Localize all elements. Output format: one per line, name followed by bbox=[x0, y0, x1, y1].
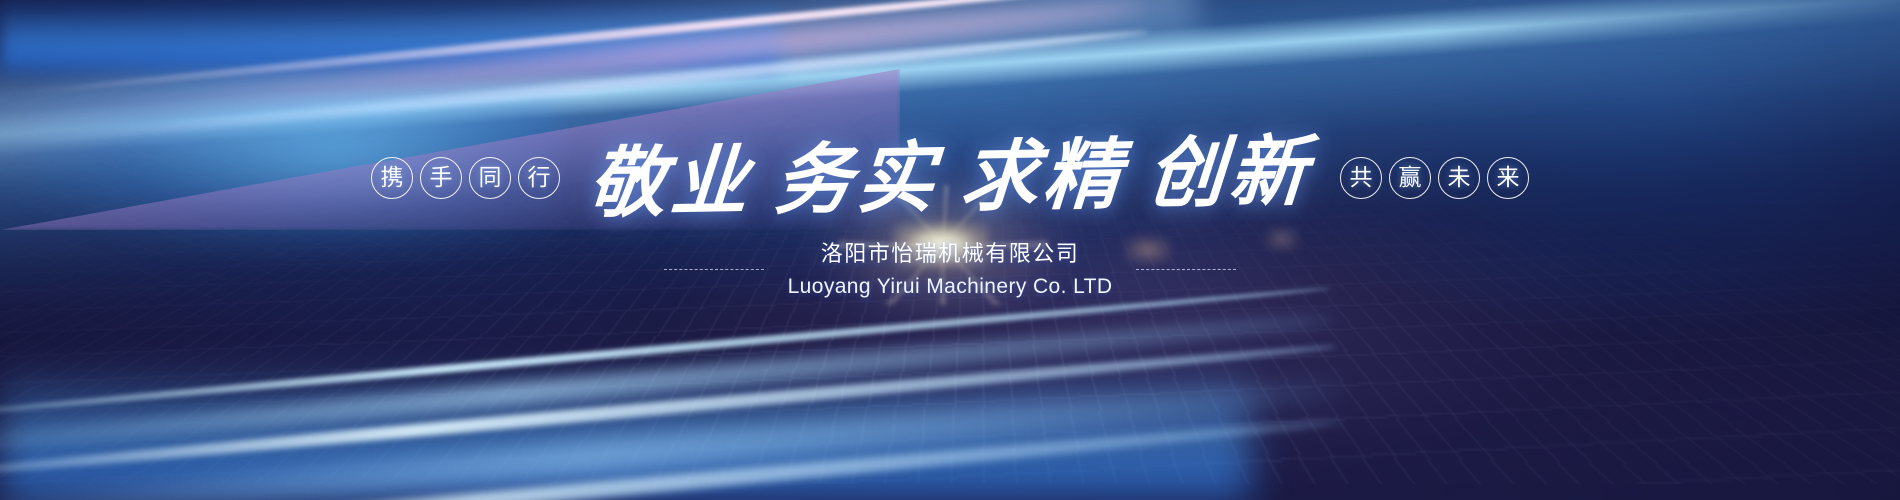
circle-char-xing: 行 bbox=[518, 157, 560, 199]
company-names: 洛阳市怡瑞机械有限公司 Luoyang Yirui Machinery Co. … bbox=[788, 240, 1113, 300]
circle-char-lai: 来 bbox=[1487, 157, 1529, 199]
circle-char-ying: 赢 bbox=[1389, 157, 1431, 199]
calligraphy-phrase-chuangxin: 创新 bbox=[1134, 133, 1326, 213]
slogan-row: 携 手 同 行 敬业 务实 求精 创新 共 赢 未 来 bbox=[0, 128, 1900, 228]
company-name-chinese: 洛阳市怡瑞机械有限公司 bbox=[821, 240, 1080, 270]
company-name-english: Luoyang Yirui Machinery Co. LTD bbox=[788, 273, 1113, 300]
circle-char-tong: 同 bbox=[469, 157, 511, 199]
calligraphy-phrase-qiujing: 求精 bbox=[947, 136, 1139, 216]
slogan-right-circle-group: 共 赢 未 来 bbox=[1340, 157, 1529, 199]
slogan-calligraphy: 敬业 务实 求精 创新 bbox=[575, 133, 1325, 223]
company-name-line: 洛阳市怡瑞机械有限公司 Luoyang Yirui Machinery Co. … bbox=[0, 240, 1900, 300]
slogan-left-circle-group: 携 手 同 行 bbox=[371, 157, 560, 199]
calligraphy-phrase-jingye: 敬业 bbox=[575, 143, 767, 223]
circle-char-wei: 未 bbox=[1438, 157, 1480, 199]
hero-banner: 携 手 同 行 敬业 务实 求精 创新 共 赢 未 来 bbox=[0, 0, 1900, 500]
circle-char-xie: 携 bbox=[371, 157, 413, 199]
calligraphy-phrase-wushi: 务实 bbox=[761, 140, 953, 220]
circle-char-gong: 共 bbox=[1340, 157, 1382, 199]
dashed-rule-right bbox=[1136, 269, 1236, 270]
circle-char-shou: 手 bbox=[420, 157, 462, 199]
banner-content: 携 手 同 行 敬业 务实 求精 创新 共 赢 未 来 bbox=[0, 0, 1900, 500]
dashed-rule-left bbox=[664, 269, 764, 270]
company-name-block: 洛阳市怡瑞机械有限公司 Luoyang Yirui Machinery Co. … bbox=[0, 240, 1900, 300]
